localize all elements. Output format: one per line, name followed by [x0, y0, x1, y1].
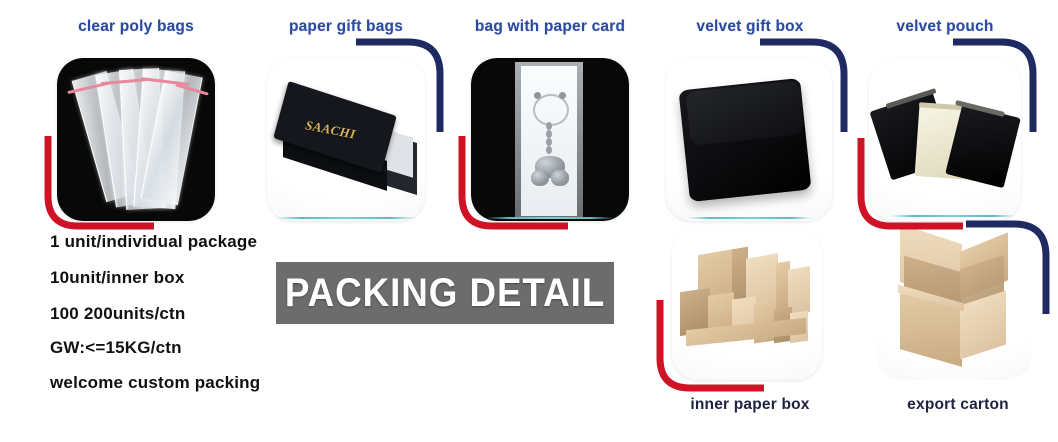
inner-paper-box-photo [672, 228, 822, 380]
bag-with-paper-card-photo [471, 58, 629, 221]
export-carton-photo [876, 228, 1032, 380]
paper-gift-box-photo: SAACHI [267, 58, 425, 221]
tile-bag-with-paper-card: bag with paper card [440, 18, 660, 223]
spec-line: welcome custom packing [50, 373, 260, 393]
tile-label-velvet-gift-box: velvet gift box [640, 18, 860, 36]
velvet-gift-box-photo [666, 58, 832, 221]
tile-label-clear-poly-bags: clear poly bags [26, 18, 246, 36]
packing-detail-banner-text: PACKING DETAIL [285, 271, 605, 316]
packing-detail-banner: PACKING DETAIL [276, 262, 614, 324]
tile-velvet-gift-box: velvet gift box [640, 18, 860, 223]
tile-export-carton: export carton [858, 228, 1058, 414]
tile-label-paper-gift-bags: paper gift bags [236, 18, 456, 36]
tile-label-bag-with-paper-card: bag with paper card [440, 18, 660, 36]
velvet-pouch-photo [869, 58, 1021, 221]
spec-line: 10unit/inner box [50, 268, 185, 288]
clear-poly-bags-photo [57, 58, 215, 221]
tile-label-inner-paper-box: inner paper box [640, 396, 860, 414]
tile-inner-paper-box: inner paper box [640, 228, 860, 414]
tile-velvet-pouch: velvet pouch [845, 18, 1045, 223]
spec-line: 1 unit/individual package [50, 232, 257, 252]
tile-label-export-carton: export carton [858, 396, 1058, 414]
tile-clear-poly-bags: clear poly bags [26, 18, 246, 223]
tile-label-velvet-pouch: velvet pouch [845, 18, 1045, 36]
spec-line: GW:<=15KG/ctn [50, 338, 182, 358]
spec-line: 100 200units/ctn [50, 304, 185, 324]
packing-detail-infographic: clear poly bags paper gift bags [0, 0, 1058, 442]
tile-paper-gift-bags: paper gift bags SAACHI [236, 18, 456, 223]
